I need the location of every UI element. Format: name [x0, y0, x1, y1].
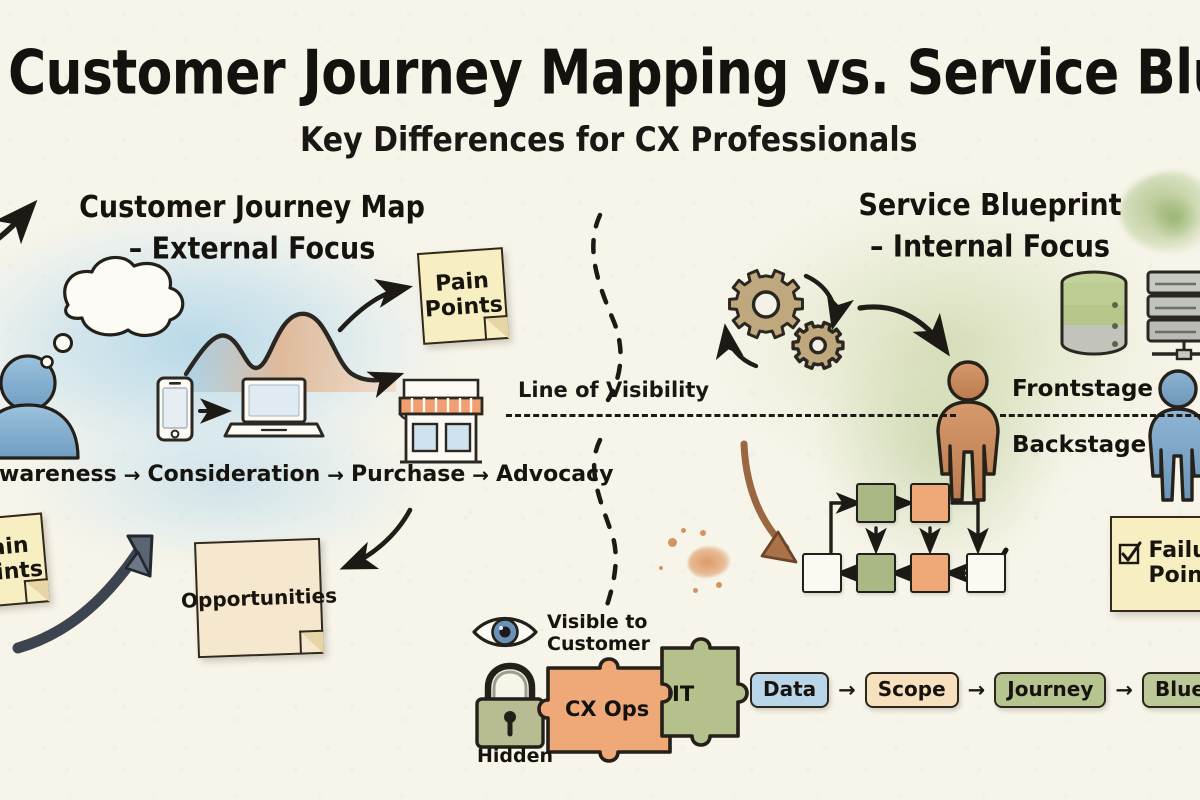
- flow-box-bottom-check: [966, 553, 1006, 593]
- flowchart-connectors: [831, 503, 978, 573]
- orange-splatter-dot: [693, 588, 698, 593]
- stage-arrow-icon: →: [124, 463, 141, 487]
- storefront-icon: [400, 380, 482, 462]
- backstage-label: Backstage: [1012, 432, 1146, 458]
- sticky-note-failure-points: Failure Points: [1110, 516, 1200, 612]
- visible-label-line2: Customer: [547, 634, 650, 656]
- eye-icon: [474, 619, 536, 646]
- orange-splatter-dot: [668, 538, 677, 547]
- puzzle-label-cx-ops: CX Ops: [565, 697, 649, 721]
- puzzle-label-it: IT: [672, 682, 694, 706]
- arrow-to-pain-points: [340, 288, 404, 330]
- infographic-canvas: Customer Journey Mapping vs. Service Blu…: [0, 0, 1200, 800]
- failure-points-checkbox-icon: [1118, 541, 1142, 565]
- flow-box-top-green: [856, 483, 896, 523]
- pipeline-arrow-icon: →: [968, 678, 986, 702]
- left-panel-heading: Customer Journey Map – External Focus: [42, 190, 462, 266]
- gears-icon: [730, 270, 843, 368]
- sticky-pain-points2-line2: Points: [0, 558, 44, 589]
- frontstage-person-icon: [938, 362, 998, 500]
- stage-arrow-icon: →: [472, 463, 489, 487]
- pipeline-step-data[interactable]: Data: [750, 672, 829, 708]
- pipeline-step-blueprint[interactable]: Blueprint: [1142, 672, 1200, 708]
- flow-box-bottom-orange: [910, 553, 950, 593]
- stage-arrow-icon: →: [327, 463, 344, 487]
- orange-splatter-dot: [659, 566, 663, 570]
- orange-splatter-icon: [688, 546, 730, 578]
- flow-box-top-orange: [910, 483, 950, 523]
- arrow-gears-to-person: [860, 307, 944, 348]
- sticky-note-opportunities: Opportunities: [194, 538, 324, 658]
- journey-stage-awareness: Awareness: [0, 462, 117, 487]
- visible-to-customer-label: Visible to Customer: [547, 612, 650, 656]
- right-panel-heading-line1: Service Blueprint: [858, 188, 1121, 223]
- laptop-icon: [225, 379, 323, 436]
- journey-stage-advocacy: Advocacy: [496, 462, 614, 487]
- sticky-opportunities-label: Opportunities: [181, 584, 338, 612]
- journey-stages-row: Awareness → Consideration → Purchase → A…: [0, 462, 614, 487]
- incoming-arrow-icon: [0, 208, 30, 255]
- pipeline-arrow-icon: →: [1115, 678, 1133, 702]
- left-panel-heading-line2: – External Focus: [42, 231, 462, 266]
- page-subtitle: Key Differences for CX Professionals: [300, 120, 917, 160]
- orange-splatter-dot: [681, 528, 686, 533]
- sticky-note-pain-points-left: Pain Points: [0, 512, 50, 609]
- sticky-failure-points-line1: Failure: [1148, 539, 1200, 564]
- visible-label-line1: Visible to: [547, 612, 650, 634]
- circular-arrow-icon: [726, 276, 835, 366]
- backstage-person-icon: [1150, 371, 1200, 500]
- pipeline-step-journey[interactable]: Journey: [994, 672, 1106, 708]
- hidden-label: Hidden: [477, 746, 553, 768]
- arrow-to-opportunities: [348, 510, 410, 566]
- line-of-visibility-label: Line of Visibility: [518, 378, 709, 402]
- orange-splatter-dot: [700, 530, 706, 536]
- line-of-visibility-dash-left: [506, 414, 956, 417]
- smartphone-icon: [158, 378, 192, 440]
- flow-box-bottom-green: [856, 553, 896, 593]
- line-of-visibility-dash-right: [1000, 414, 1200, 417]
- flow-box-bottom-white: [802, 553, 842, 593]
- thought-bubble-icon: [42, 257, 183, 367]
- right-panel-heading-line2: – Internal Focus: [790, 229, 1190, 264]
- pipeline-step-scope[interactable]: Scope: [865, 672, 959, 708]
- journey-stage-purchase: Purchase: [351, 462, 465, 487]
- journey-stage-consideration: Consideration: [148, 462, 321, 487]
- customer-avatar-icon: [0, 356, 78, 458]
- emotion-curve-icon: [186, 314, 396, 392]
- left-panel-heading-line1: Customer Journey Map: [79, 190, 425, 225]
- sticky-pain-points-line2: Points: [424, 293, 504, 323]
- database-icon: [1062, 272, 1126, 354]
- pipeline-arrow-icon: →: [838, 678, 856, 702]
- server-rack-icon: [1148, 272, 1200, 359]
- right-panel-heading: Service Blueprint – Internal Focus: [790, 188, 1190, 264]
- lock-icon: [477, 666, 543, 747]
- sticky-note-pain-points-top: Pain Points: [417, 247, 509, 345]
- frontstage-label: Frontstage: [1012, 376, 1153, 402]
- backstage-swoop-arrow: [744, 444, 796, 562]
- orange-splatter-dot: [716, 582, 722, 588]
- sticky-failure-points-line2: Points: [1148, 564, 1200, 589]
- page-title: Customer Journey Mapping vs. Service Blu…: [8, 38, 1200, 109]
- process-pipeline: Data → Scope → Journey → Blueprint → I: [750, 672, 1200, 708]
